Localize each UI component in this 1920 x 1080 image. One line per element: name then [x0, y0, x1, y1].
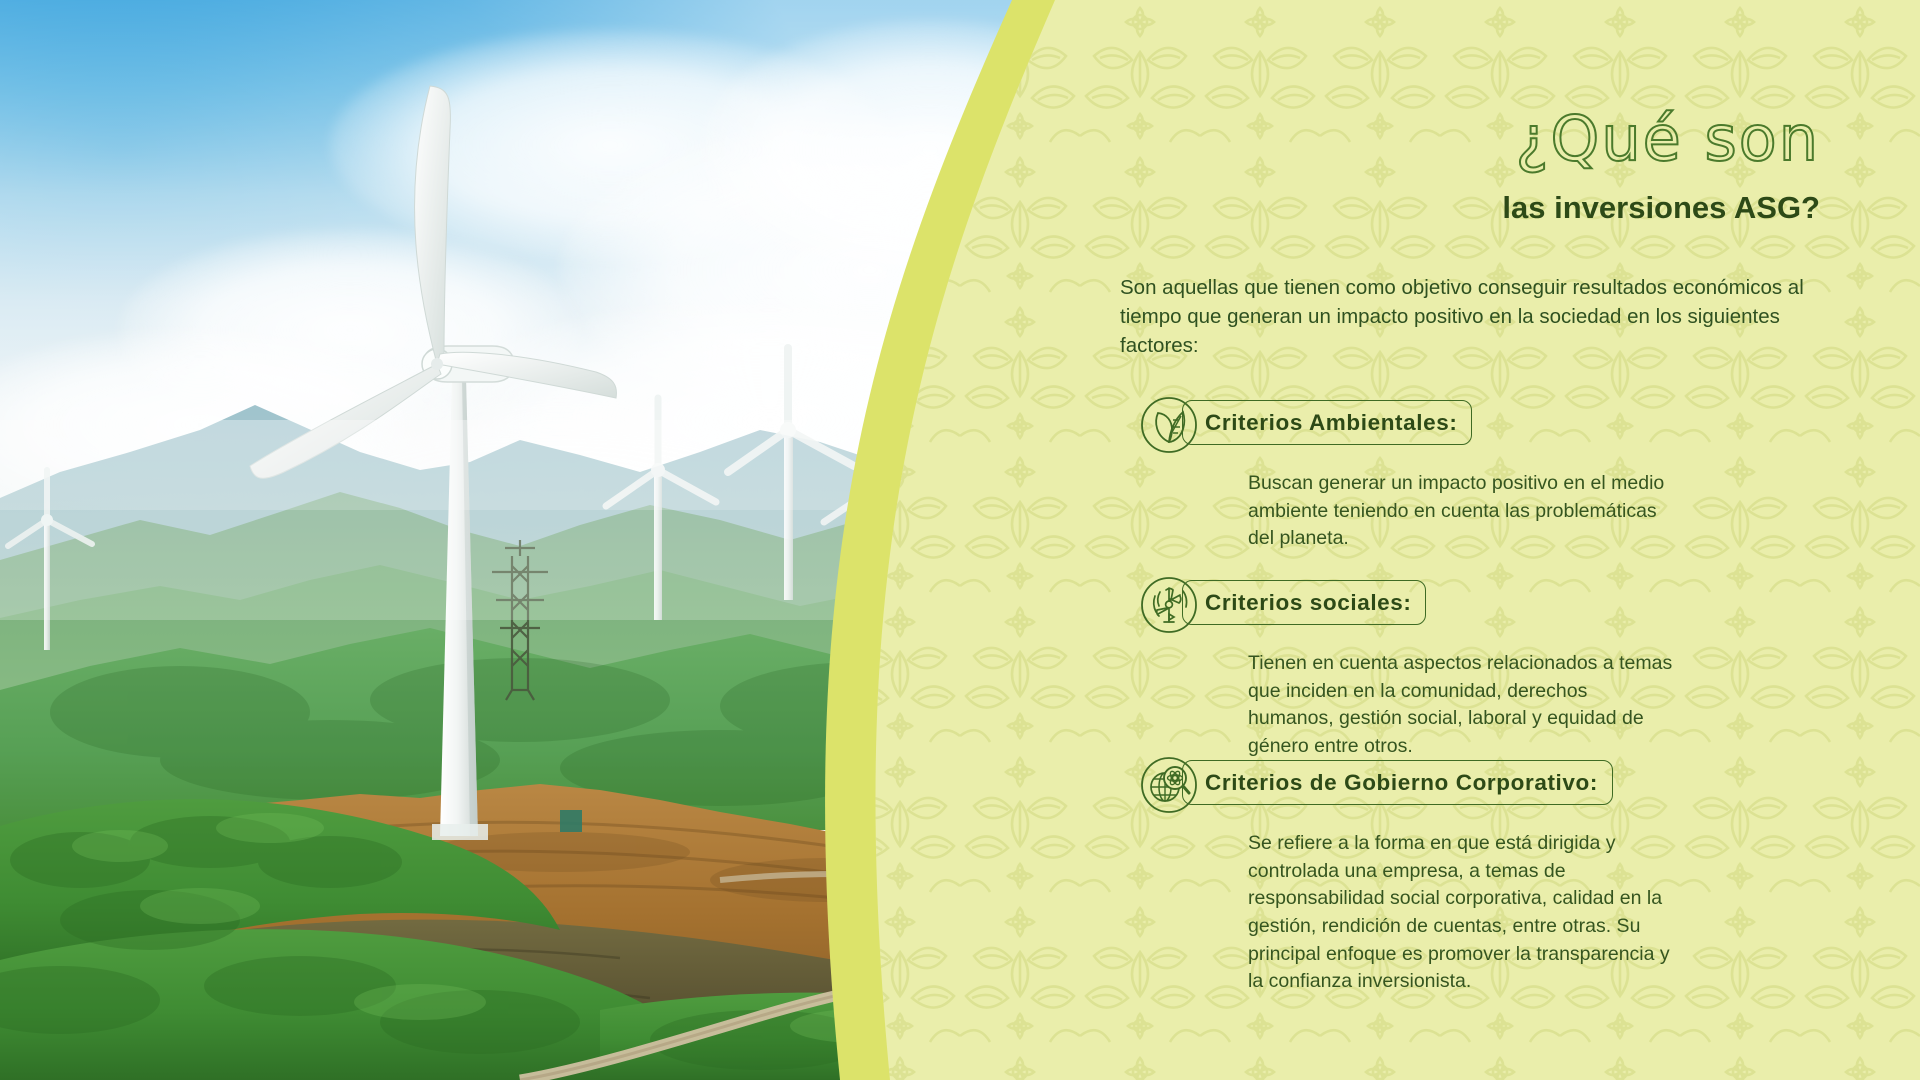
page-title: ¿Qué son	[1120, 108, 1820, 170]
criteria-header: Criterios de Gobierno Corporativo:	[1120, 756, 1820, 814]
criteria-label-pill: Criterios sociales:	[1182, 580, 1426, 625]
infographic-slide: ¿Qué son las inversiones ASG? Son aquell…	[0, 0, 1920, 1080]
criteria-description: Tienen en cuenta aspectos relacionados a…	[1248, 650, 1678, 761]
criteria-label: Criterios sociales:	[1205, 590, 1411, 616]
criteria-header: Criterios sociales:	[1120, 576, 1820, 634]
wind-farm-mountain-photo	[0, 0, 1100, 1080]
page-subtitle: las inversiones ASG?	[1120, 192, 1820, 223]
criteria-header: Criterios Ambientales:	[1120, 396, 1820, 454]
criteria-label-pill: Criterios Ambientales:	[1182, 400, 1472, 445]
criteria-item-environmental: Criterios Ambientales: Buscan generar un…	[1120, 396, 1820, 553]
criteria-description: Buscan generar un impacto positivo en el…	[1248, 470, 1678, 553]
criteria-label-pill: Criterios de Gobierno Corporativo:	[1182, 760, 1613, 805]
content-column: ¿Qué son las inversiones ASG? Son aquell…	[1120, 0, 1840, 1080]
criteria-item-governance: Criterios de Gobierno Corporativo: Se re…	[1120, 756, 1820, 996]
criteria-item-social: Criterios sociales: Tienen en cuenta asp…	[1120, 576, 1820, 761]
criteria-label: Criterios Ambientales:	[1205, 410, 1457, 436]
intro-paragraph: Son aquellas que tienen como objetivo co…	[1120, 273, 1820, 360]
criteria-label: Criterios de Gobierno Corporativo:	[1205, 770, 1598, 796]
criteria-description: Se refiere a la forma en que está dirigi…	[1248, 830, 1678, 996]
